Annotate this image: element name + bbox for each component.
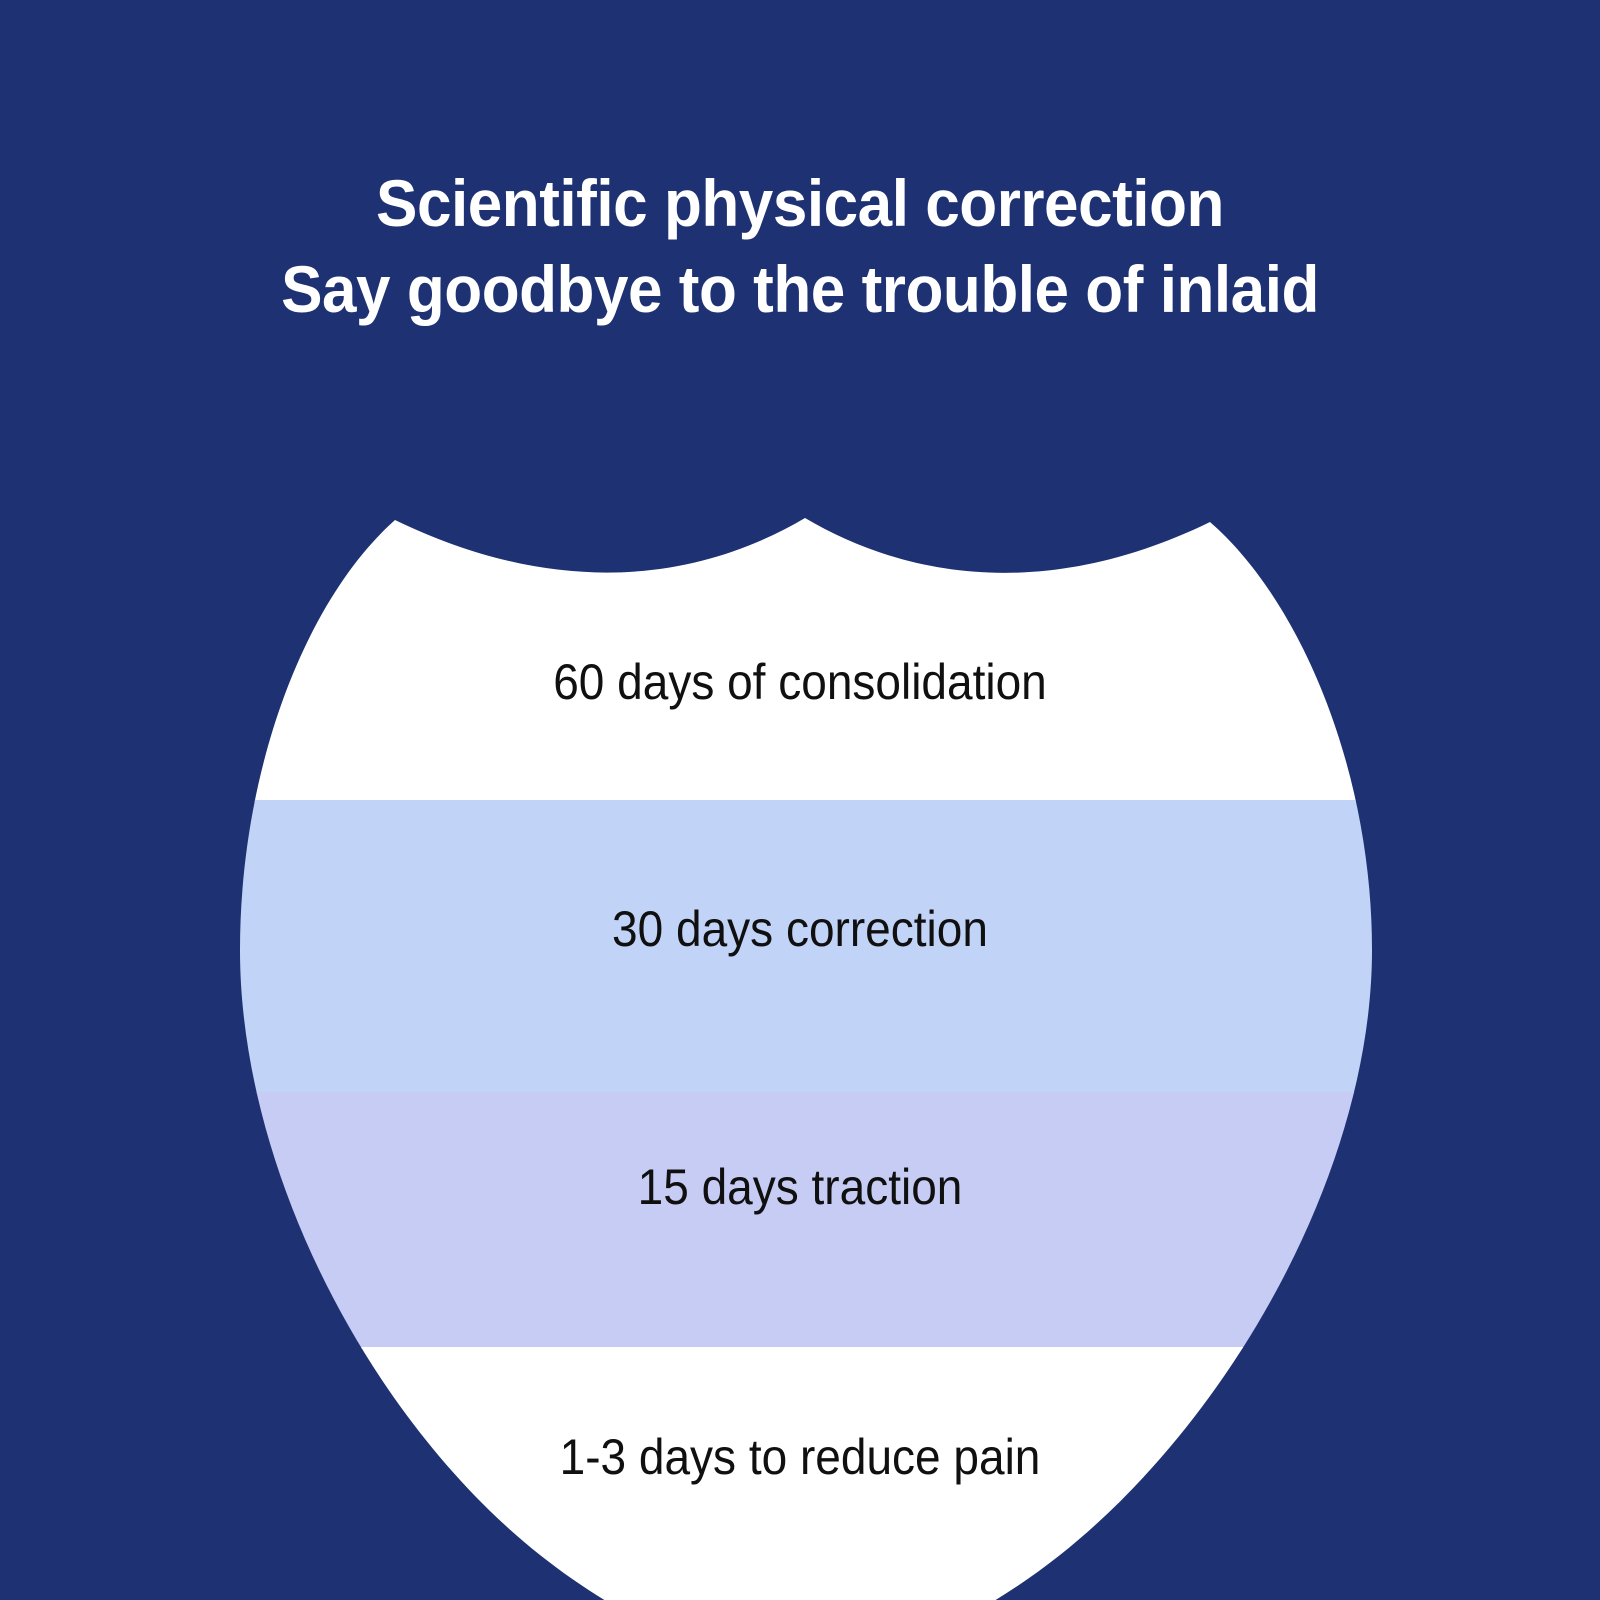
poster-canvas: Scientific physical correction Say goodb… — [0, 0, 1600, 1600]
shield-band-label-traction: 15 days traction — [64, 1158, 1536, 1216]
page-title-line-1: Scientific physical correction — [48, 160, 1552, 246]
shield-band-label-reduce-pain: 1-3 days to reduce pain — [64, 1428, 1536, 1486]
shield-bands — [0, 440, 1600, 1600]
page-title-line-2: Say goodbye to the trouble of inlaid — [48, 246, 1552, 332]
shield-band-consolidation — [0, 440, 1600, 802]
shield-band-label-consolidation: 60 days of consolidation — [64, 653, 1536, 711]
shield-band-label-correction: 30 days correction — [64, 900, 1536, 958]
page-title: Scientific physical correction Say goodb… — [48, 160, 1552, 332]
shield-band-traction — [0, 1092, 1600, 1349]
